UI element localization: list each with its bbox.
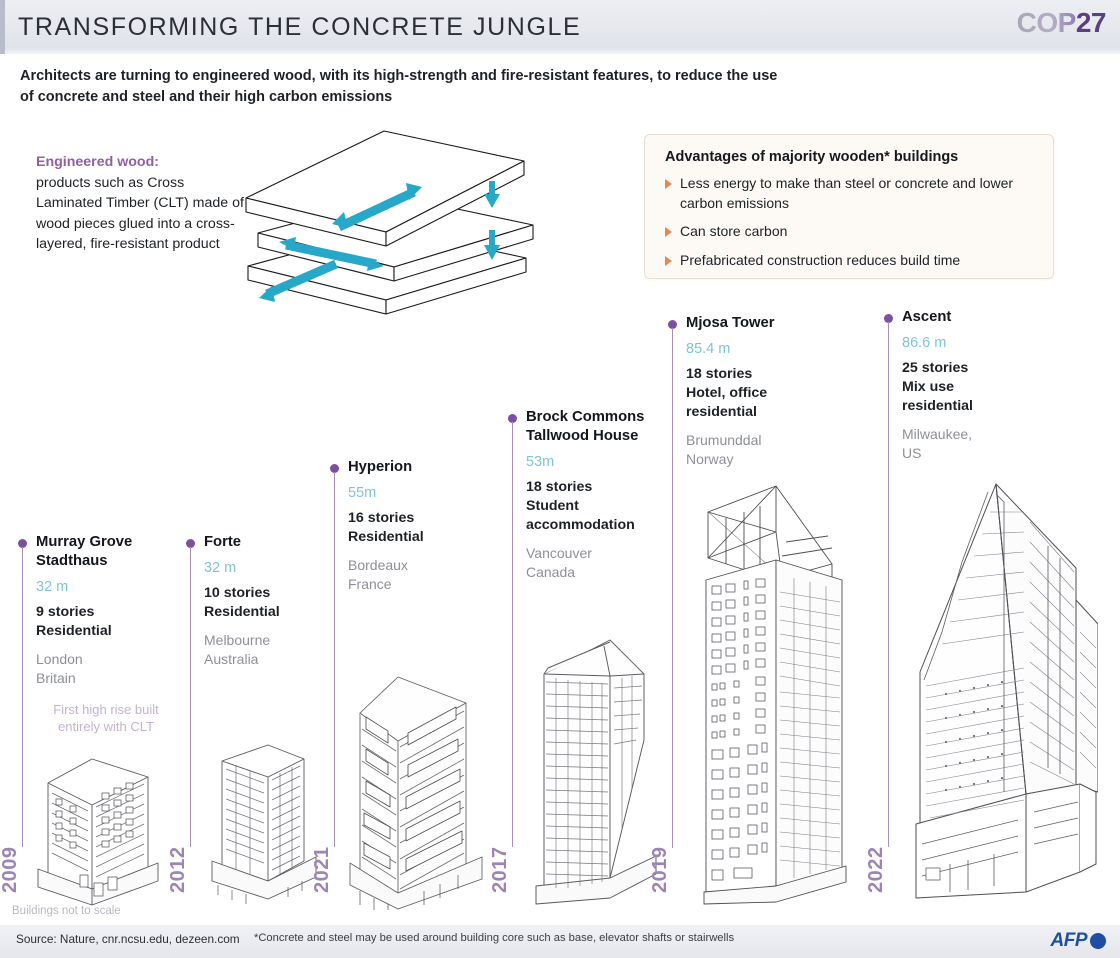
building-illustration-murray-grove [30,755,170,912]
advantages-box: Advantages of majority wooden* buildings… [644,134,1054,279]
buildings-not-to-scale-note: Buildings not to scale [12,905,121,917]
building-illustration-brock-commons [522,628,662,915]
building-height: 32 m [36,578,176,596]
footer-bar: Source: Nature, cnr.ncsu.edu, dezeen.com… [0,925,1120,958]
building-name: Brock CommonsTallwood House [526,408,644,446]
cop27-logo: COP27 [1017,7,1106,39]
year-label-2022: 2022 [865,847,888,894]
afp-logo-text: AFP [1051,930,1088,952]
connector-line [22,547,23,847]
triangle-bullet-icon [665,179,672,189]
advantage-item: Can store carbon [665,222,1037,242]
building-spec: 18 storiesHotel, officeresidential [686,365,775,422]
triangle-bullet-icon [665,256,672,266]
building-name: Ascent [902,308,973,327]
connector-line [672,328,673,848]
advantage-text: Can store carbon [680,222,787,242]
building-spec: 16 storiesResidential [348,509,424,547]
explainer-body: products such as Cross Laminated Timber … [36,175,244,253]
building-illustration-hyperion [340,655,495,915]
connector-line [888,322,889,847]
connector-line [512,422,513,847]
advantage-text: Prefabricated construction reduces build… [680,251,960,271]
building-spec: 18 storiesStudentaccommodation [526,478,644,535]
building-height: 85.4 m [686,340,775,358]
building-location: BordeauxFrance [348,556,424,594]
building-illustration-ascent [898,472,1098,917]
building-location: LondonBritain [36,650,176,688]
building-info: Forte 32 m 10 storiesResidential Melbour… [204,533,280,669]
advantages-title: Advantages of majority wooden* buildings [665,149,1037,165]
building-illustration-forte [198,735,328,912]
year-label-2019: 2019 [649,847,672,894]
year-label-2017: 2017 [489,847,512,894]
building-height: 32 m [204,559,280,577]
header-bar: TRANSFORMING THE CONCRETE JUNGLE COP27 [0,0,1120,54]
engineered-wood-explainer: Engineered wood:products such as Cross L… [36,152,251,255]
building-location: BrumunddalNorway [686,431,775,469]
building-name: Hyperion [348,458,424,477]
building-info: Hyperion 55m 16 storiesResidential Borde… [348,458,424,594]
footnote-text: *Concrete and steel may be used around b… [254,932,734,944]
triangle-bullet-icon [665,227,672,237]
cop-logo-number: 27 [1076,7,1106,39]
connector-line [190,547,191,847]
building-name: Murray GroveStadthaus [36,533,176,571]
building-height: 53m [526,453,644,471]
advantage-item: Prefabricated construction reduces build… [665,251,1037,271]
building-spec: 10 storiesResidential [204,584,280,622]
year-label-2012: 2012 [167,847,190,894]
building-location: VancouverCanada [526,544,644,582]
building-location: Milwaukee,US [902,425,973,463]
building-spec: 9 storiesResidential [36,603,176,641]
year-label-2021: 2021 [311,847,334,894]
building-height: 55m [348,484,424,502]
clt-layers-diagram [236,128,536,328]
cop-logo-text: COP [1017,7,1076,39]
building-name: Forte [204,533,280,552]
building-illustration-mjosa-tower [686,482,851,912]
advantage-text: Less energy to make than steel or concre… [680,174,1037,213]
connector-line [334,472,335,847]
afp-logo-dot-icon [1090,933,1106,949]
infographic-page: TRANSFORMING THE CONCRETE JUNGLE COP27 A… [0,0,1120,958]
building-name: Mjosa Tower [686,314,775,333]
year-label-2009: 2009 [0,847,22,894]
building-info: Brock CommonsTallwood House 53m 18 stori… [526,408,644,582]
afp-logo: AFP [1051,930,1107,952]
building-height: 86.6 m [902,334,973,352]
building-info: Ascent 86.6 m 25 storiesMix use resident… [902,308,973,463]
advantage-item: Less energy to make than steel or concre… [665,174,1037,213]
header-accent-bar [0,0,5,54]
explainer-highlight: Engineered wood: [36,152,251,173]
building-info: Murray GroveStadthaus 32 m 9 storiesResi… [36,533,176,735]
building-note: First high rise builtentirely with CLT [36,701,176,735]
building-info: Mjosa Tower 85.4 m 18 storiesHotel, offi… [686,314,775,469]
building-spec: 25 storiesMix use residential [902,359,973,416]
building-location: MelbourneAustralia [204,631,280,669]
subtitle-text: Architects are turning to engineered woo… [20,66,780,108]
page-title: TRANSFORMING THE CONCRETE JUNGLE [18,13,581,42]
source-text: Source: Nature, cnr.ncsu.edu, dezeen.com [16,932,240,946]
